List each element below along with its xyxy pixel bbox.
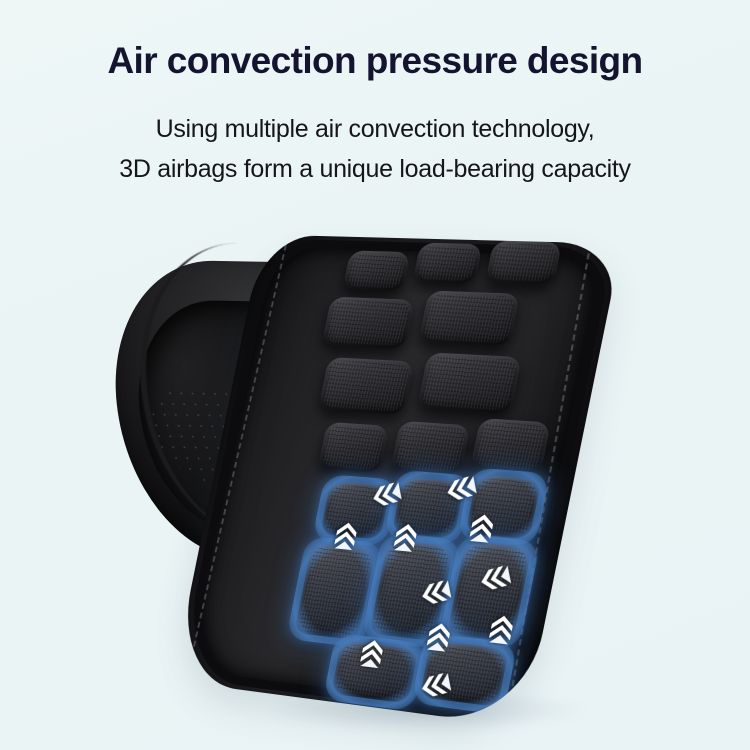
airbag-cell-top-4 <box>418 290 520 346</box>
airbag-cell-top-1 <box>413 243 483 285</box>
subtitle-line-1: Using multiple air convection technology… <box>0 109 750 150</box>
airbag-cell-top-0 <box>343 250 411 291</box>
airbag-cell-top-2 <box>485 240 562 284</box>
airbag-cell-top-7 <box>318 422 390 474</box>
airbag-cell-top-8 <box>390 421 470 476</box>
airbag-cell-top-6 <box>417 352 522 413</box>
airbag-cell-top-3 <box>322 297 415 350</box>
airbag-cell-top-9 <box>470 418 551 474</box>
airbag-cell-top-5 <box>318 357 414 415</box>
subtitle-line-2: 3D airbags form a unique load-bearing ca… <box>0 149 750 190</box>
page-title: Air convection pressure design <box>0 40 750 83</box>
header-text-block: Air convection pressure design Using mul… <box>0 0 750 190</box>
product-image <box>112 236 642 736</box>
product-feature-page: Air convection pressure design Using mul… <box>0 0 750 750</box>
